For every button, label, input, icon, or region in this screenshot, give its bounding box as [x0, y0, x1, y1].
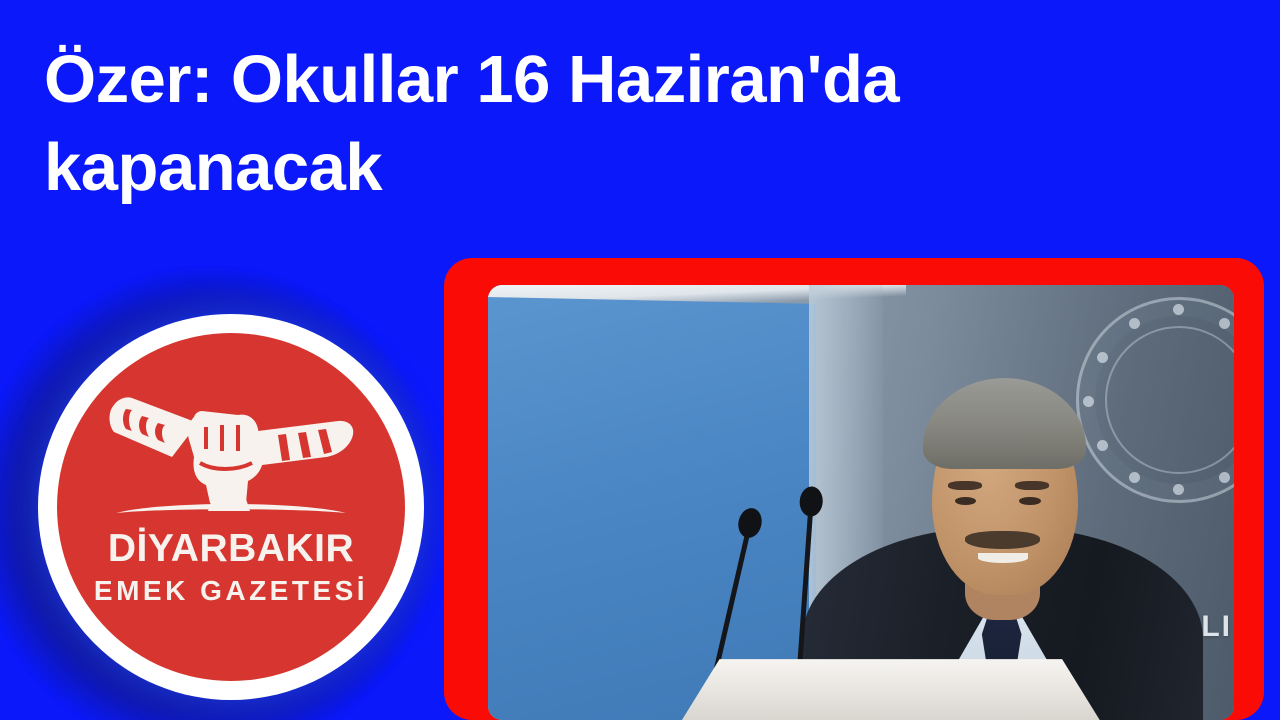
fist-holding-rolled-newspaper-icon: [102, 371, 360, 517]
subject-eyebrow-right: [1015, 481, 1048, 490]
subject-hair: [923, 378, 1086, 470]
podium: [682, 659, 1100, 720]
photo-frame[interactable]: ACILI KNİ: [444, 258, 1264, 720]
logo-disc: DİYARBAKIR EMEK GAZETESİ: [57, 333, 405, 681]
photo-blue-panel: [488, 297, 816, 720]
subject-mustache: [965, 531, 1040, 549]
subject-eyebrow-left: [948, 481, 981, 490]
logo-word-primary: DİYARBAKIR: [57, 529, 405, 568]
photo-subject: [794, 302, 1212, 720]
subject-eye-right: [1019, 497, 1041, 505]
news-card-canvas: Özer: Okullar 16 Haziran'da kapanacak: [0, 0, 1280, 720]
logo-word-secondary: EMEK GAZETESİ: [57, 577, 405, 605]
subject-eye-left: [955, 497, 977, 505]
newspaper-logo[interactable]: DİYARBAKIR EMEK GAZETESİ: [38, 314, 424, 700]
logo-ring: DİYARBAKIR EMEK GAZETESİ: [38, 314, 424, 700]
news-photo: ACILI KNİ: [488, 285, 1234, 720]
page-title: Özer: Okullar 16 Haziran'da kapanacak: [44, 36, 1134, 213]
logo-wordmark: DİYARBAKIR EMEK GAZETESİ: [57, 529, 405, 605]
